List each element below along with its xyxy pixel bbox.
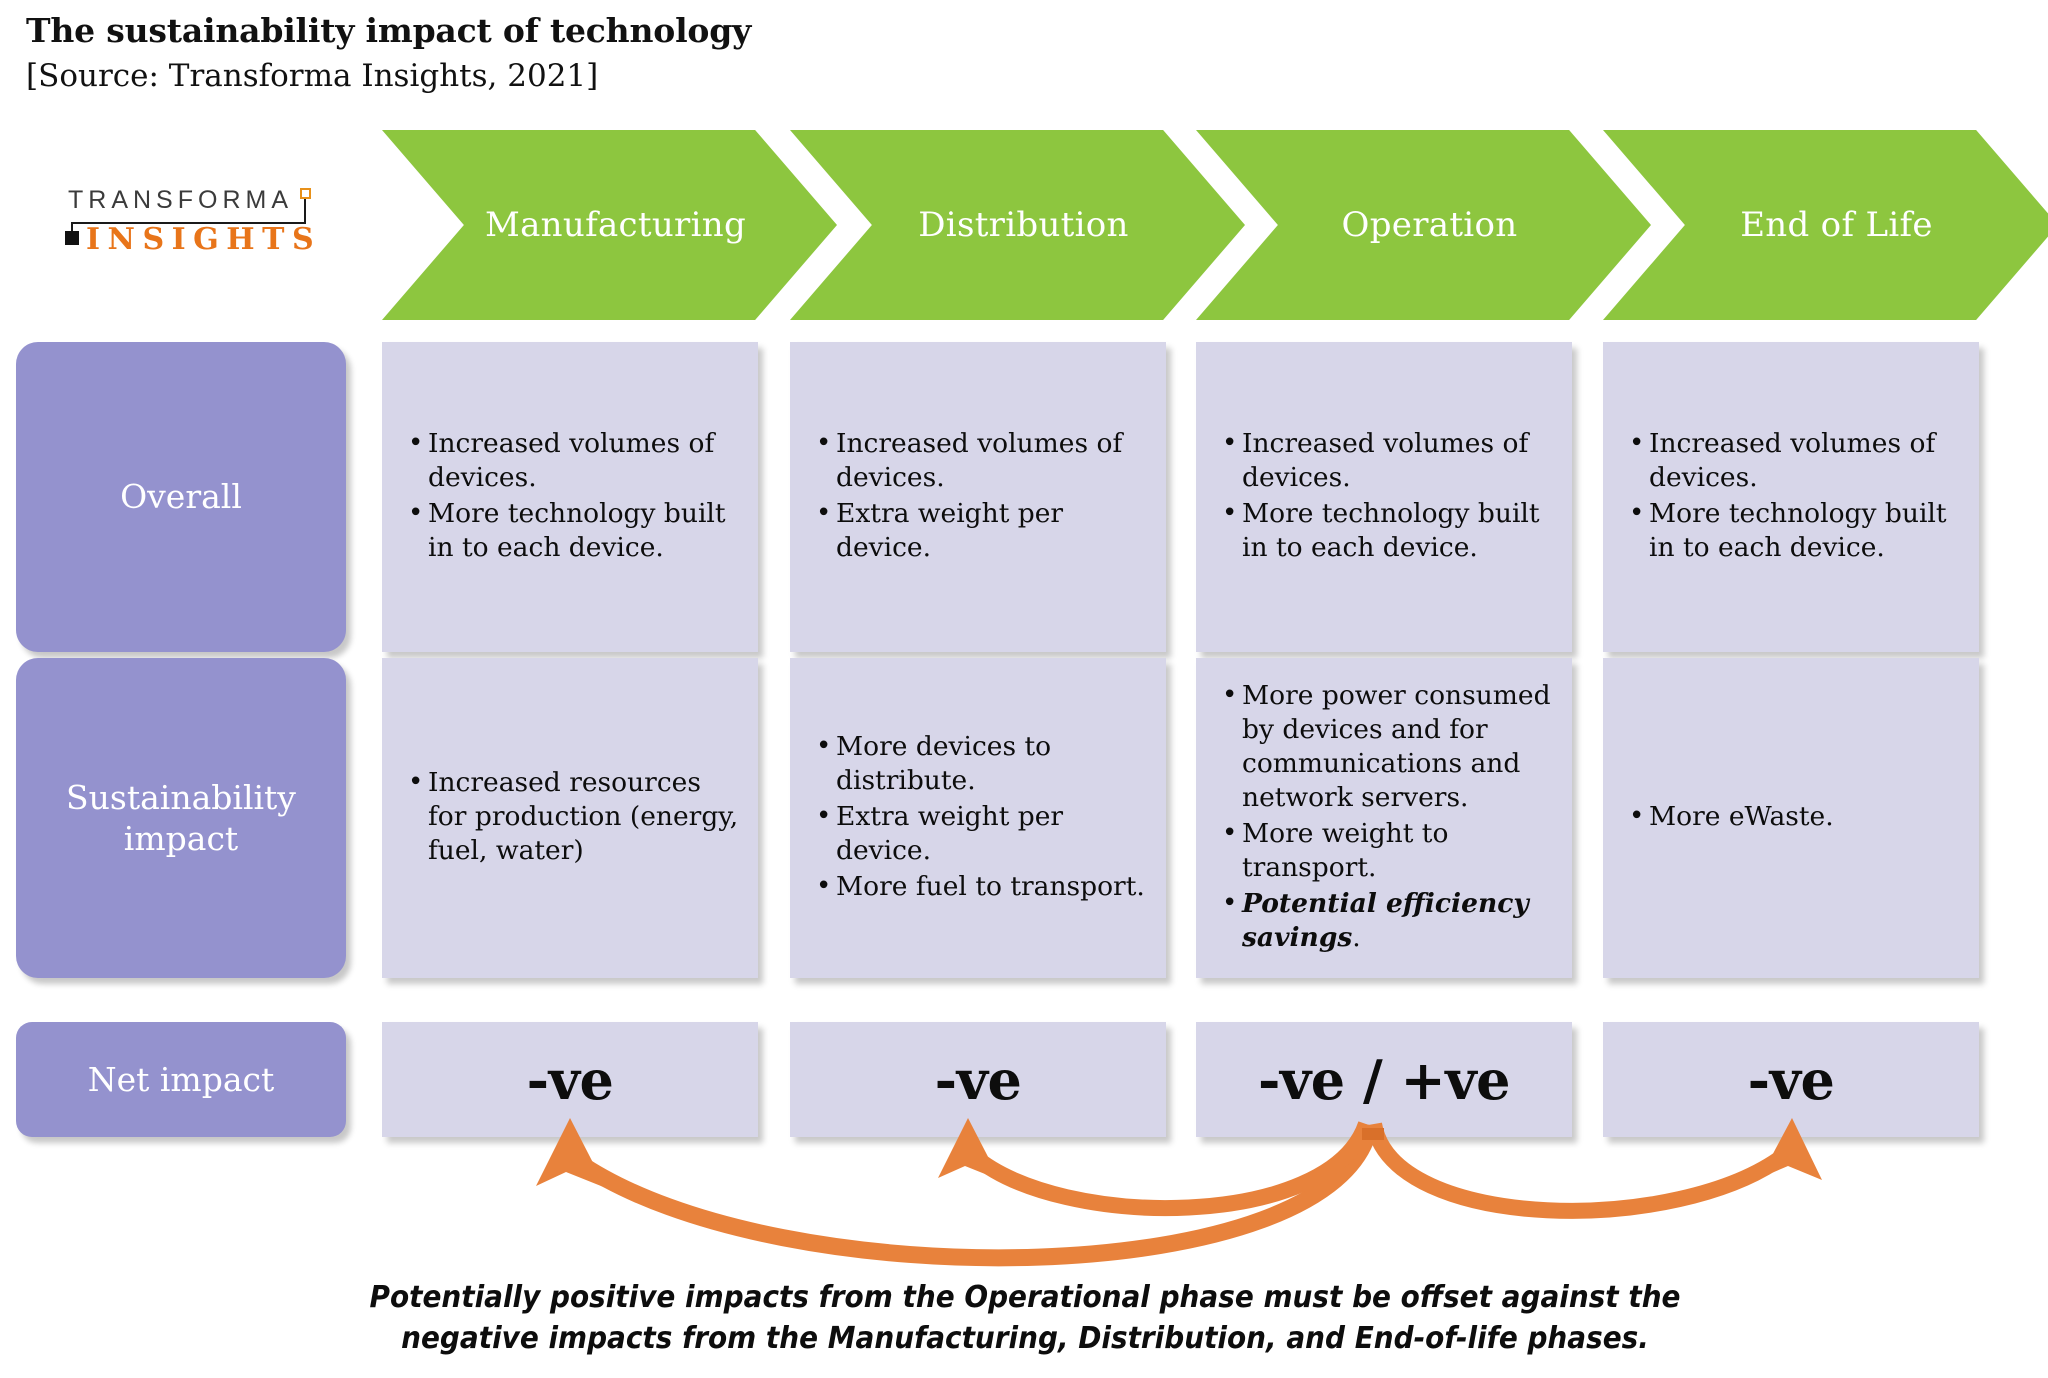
row-label-text: Overall — [120, 476, 242, 517]
bullet-text: . — [1352, 922, 1360, 953]
bullet-list: More power consumed by devices and for c… — [1196, 679, 1572, 956]
net-impact-value: -ve / +ve — [1258, 1048, 1510, 1112]
title-block: The sustainability impact of technology … — [26, 10, 1226, 97]
list-item: More devices to distribute. — [816, 730, 1152, 798]
list-item: Extra weight per device. — [816, 800, 1152, 868]
row-label-text: Sustainability impact — [16, 777, 346, 860]
list-item: Increased volumes of devices. — [816, 427, 1152, 495]
bullet-text: More technology built in to each device. — [428, 498, 726, 563]
list-item: Increased resources for production (ener… — [408, 766, 744, 868]
bullet-text: Extra weight per device. — [836, 498, 1063, 563]
bullet-text: More weight to transport. — [1242, 818, 1448, 883]
list-item: More eWaste. — [1629, 800, 1965, 834]
bullet-list: Increased volumes of devices. Extra weig… — [790, 427, 1166, 567]
list-item: More power consumed by devices and for c… — [1222, 679, 1558, 815]
bullet-list: Increased volumes of devices. More techn… — [1603, 427, 1979, 567]
net-impact-manufacturing[interactable]: -ve — [382, 1022, 758, 1137]
phase-chevron-manufacturing[interactable]: Manufacturing — [382, 130, 837, 320]
list-item: Increased volumes of devices. — [408, 427, 744, 495]
bullet-list: Increased resources for production (ener… — [382, 766, 758, 870]
net-impact-value: -ve — [527, 1048, 614, 1112]
net-impact-value: -ve — [1748, 1048, 1835, 1112]
bullet-list: More eWaste. — [1603, 800, 1979, 836]
phase-chevron-label: Manufacturing — [485, 205, 746, 245]
cell-overall-manufacturing[interactable]: Increased volumes of devices. More techn… — [382, 342, 758, 652]
bullet-text: Increased volumes of devices. — [1649, 428, 1935, 493]
bullet-text: Increased volumes of devices. — [1242, 428, 1528, 493]
phase-chevron-distribution[interactable]: Distribution — [790, 130, 1245, 320]
cell-overall-operation[interactable]: Increased volumes of devices. More techn… — [1196, 342, 1572, 652]
page-source-line: [Source: Transforma Insights, 2021] — [26, 56, 1226, 96]
row-label-text: Net impact — [88, 1059, 275, 1100]
list-item: Increased volumes of devices. — [1629, 427, 1965, 495]
page-title: The sustainability impact of technology — [26, 10, 1226, 51]
footer-caption: Potentially positive impacts from the Op… — [351, 1278, 1700, 1359]
bullet-text: More devices to distribute. — [836, 731, 1051, 796]
phase-chevron-end-of-life[interactable]: End of Life — [1603, 130, 2048, 320]
bullet-text: More fuel to transport. — [836, 871, 1145, 902]
net-impact-operation[interactable]: -ve / +ve — [1196, 1022, 1572, 1137]
arrow-operation-to-manufacturing — [536, 1118, 1370, 1258]
row-label-net-impact[interactable]: Net impact — [16, 1022, 346, 1137]
bullet-list: Increased volumes of devices. More techn… — [1196, 427, 1572, 567]
phase-chevron-operation[interactable]: Operation — [1196, 130, 1651, 320]
list-item: More technology built in to each device. — [408, 497, 744, 565]
bullet-text: More power consumed by devices and for c… — [1242, 680, 1551, 813]
list-item: More technology built in to each device. — [1629, 497, 1965, 565]
row-label-sustainability-impact[interactable]: Sustainability impact — [16, 658, 346, 978]
row-label-overall[interactable]: Overall — [16, 342, 346, 652]
list-item: More weight to transport. — [1222, 817, 1558, 885]
bullet-list: More devices to distribute. Extra weight… — [790, 730, 1166, 906]
phase-chevron-row: Manufacturing Distribution Operation End… — [0, 130, 2048, 320]
phase-chevron-label: Operation — [1342, 205, 1518, 245]
bullet-text: More eWaste. — [1649, 801, 1834, 832]
cell-overall-distribution[interactable]: Increased volumes of devices. Extra weig… — [790, 342, 1166, 652]
bullet-text: Increased volumes of devices. — [836, 428, 1122, 493]
bullet-text: More technology built in to each device. — [1242, 498, 1540, 563]
net-impact-value: -ve — [935, 1048, 1022, 1112]
list-item: More fuel to transport. — [816, 870, 1152, 904]
cell-sustainability-end-of-life[interactable]: More eWaste. — [1603, 658, 1979, 978]
bullet-text: Increased volumes of devices. — [428, 428, 714, 493]
cell-sustainability-distribution[interactable]: More devices to distribute. Extra weight… — [790, 658, 1166, 978]
net-impact-distribution[interactable]: -ve — [790, 1022, 1166, 1137]
bullet-text: Increased resources for production (ener… — [428, 767, 738, 866]
list-item: Extra weight per device. — [816, 497, 1152, 565]
net-impact-end-of-life[interactable]: -ve — [1603, 1022, 1979, 1137]
cell-sustainability-manufacturing[interactable]: Increased resources for production (ener… — [382, 658, 758, 978]
cell-overall-end-of-life[interactable]: Increased volumes of devices. More techn… — [1603, 342, 1979, 652]
bullet-text: Extra weight per device. — [836, 801, 1063, 866]
phase-chevron-label: Distribution — [918, 205, 1129, 245]
bullet-list: Increased volumes of devices. More techn… — [382, 427, 758, 567]
phase-chevron-label: End of Life — [1740, 205, 1933, 245]
cell-sustainability-operation[interactable]: More power consumed by devices and for c… — [1196, 658, 1572, 978]
bullet-text: More technology built in to each device. — [1649, 498, 1947, 563]
list-item: Potential efficiency savings. — [1222, 887, 1558, 955]
list-item: More technology built in to each device. — [1222, 497, 1558, 565]
bullet-emphasis: Potential efficiency savings — [1242, 888, 1529, 953]
list-item: Increased volumes of devices. — [1222, 427, 1558, 495]
